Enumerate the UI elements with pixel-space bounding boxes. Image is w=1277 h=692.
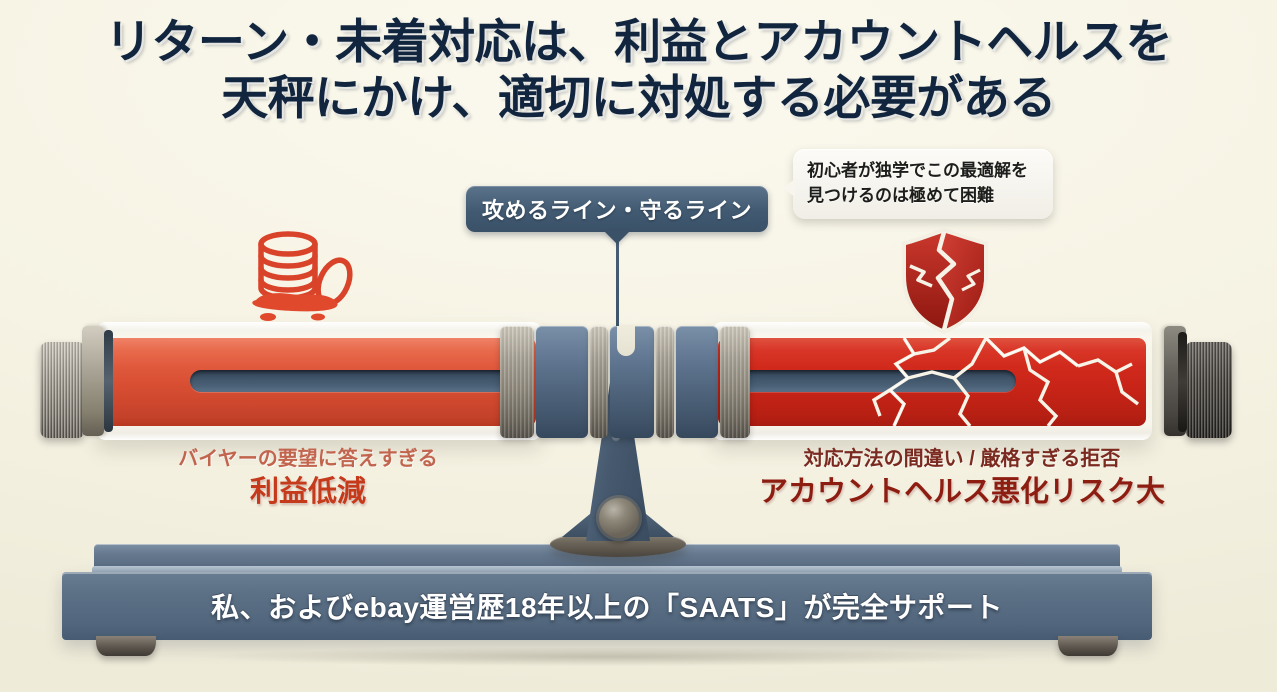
hub-center-notch (617, 326, 635, 356)
beam-end-cap-left (40, 342, 84, 438)
page-title: リターン・未着対応は、利益とアカウントヘルスを 天秤にかけ、適切に対処する必要が… (0, 14, 1277, 126)
crack-overlay-right (718, 338, 1146, 426)
hub-collar-3 (590, 326, 608, 438)
center-callout-label: 攻めるライン・守るライン (466, 186, 768, 232)
base-banner-text: 私、およびebay運営歴18年以上の「SAATS」が完全サポート (211, 586, 1003, 626)
beam-ring-left (104, 330, 113, 432)
pedestal-pivot-boss (596, 495, 642, 541)
coins-spill-icon (246, 222, 362, 326)
hub-collar-6 (676, 326, 718, 438)
beam-end-cap-right (1186, 342, 1232, 438)
title-line-1: リターン・未着対応は、利益とアカウントヘルスを (0, 14, 1277, 70)
speech-bubble: 初心者が独学でこの最適解を 見つけるのは極めて困難 (793, 149, 1053, 219)
callout-tail (604, 231, 630, 244)
title-line-2: 天秤にかけ、適切に対処する必要がある (0, 70, 1277, 126)
hub-collar-1 (500, 326, 534, 438)
hub-collar-5 (656, 326, 674, 438)
base-foot-right (1058, 636, 1118, 656)
slide-canvas: リターン・未着対応は、利益とアカウントヘルスを 天秤にかけ、適切に対処する必要が… (0, 0, 1277, 692)
center-callout-text: 攻めるライン・守るライン (482, 193, 752, 225)
beam-flange-left (82, 326, 104, 436)
left-caption-group: バイヤーの要望に答えすぎる 利益低減 (98, 446, 518, 511)
speech-bubble-line-2: 見つけるのは極めて困難 (807, 183, 1041, 208)
beam-center-hub (500, 326, 750, 438)
base-platform: 私、およびebay運営歴18年以上の「SAATS」が完全サポート (62, 544, 1152, 654)
hub-collar-2 (536, 326, 588, 438)
right-caption-subtitle: 対応方法の間違い / 厳格すぎる拒否 (722, 446, 1202, 473)
right-caption-group: 対応方法の間違い / 厳格すぎる拒否 アカウントヘルス悪化リスク大 (722, 446, 1202, 511)
beam-ring-right (1178, 332, 1187, 432)
speech-bubble-tail (782, 179, 795, 197)
left-caption-subtitle: バイヤーの要望に答えすぎる (98, 446, 518, 473)
right-caption-headline: アカウントヘルス悪化リスク大 (722, 473, 1202, 511)
base-foot-left (96, 636, 156, 656)
groove-left (190, 370, 522, 392)
speech-bubble-line-1: 初心者が独学でこの最適解を (807, 158, 1041, 183)
left-caption-headline: 利益低減 (98, 473, 518, 511)
broken-shield-icon (894, 226, 998, 336)
base-body: 私、およびebay運営歴18年以上の「SAATS」が完全サポート (62, 572, 1152, 640)
